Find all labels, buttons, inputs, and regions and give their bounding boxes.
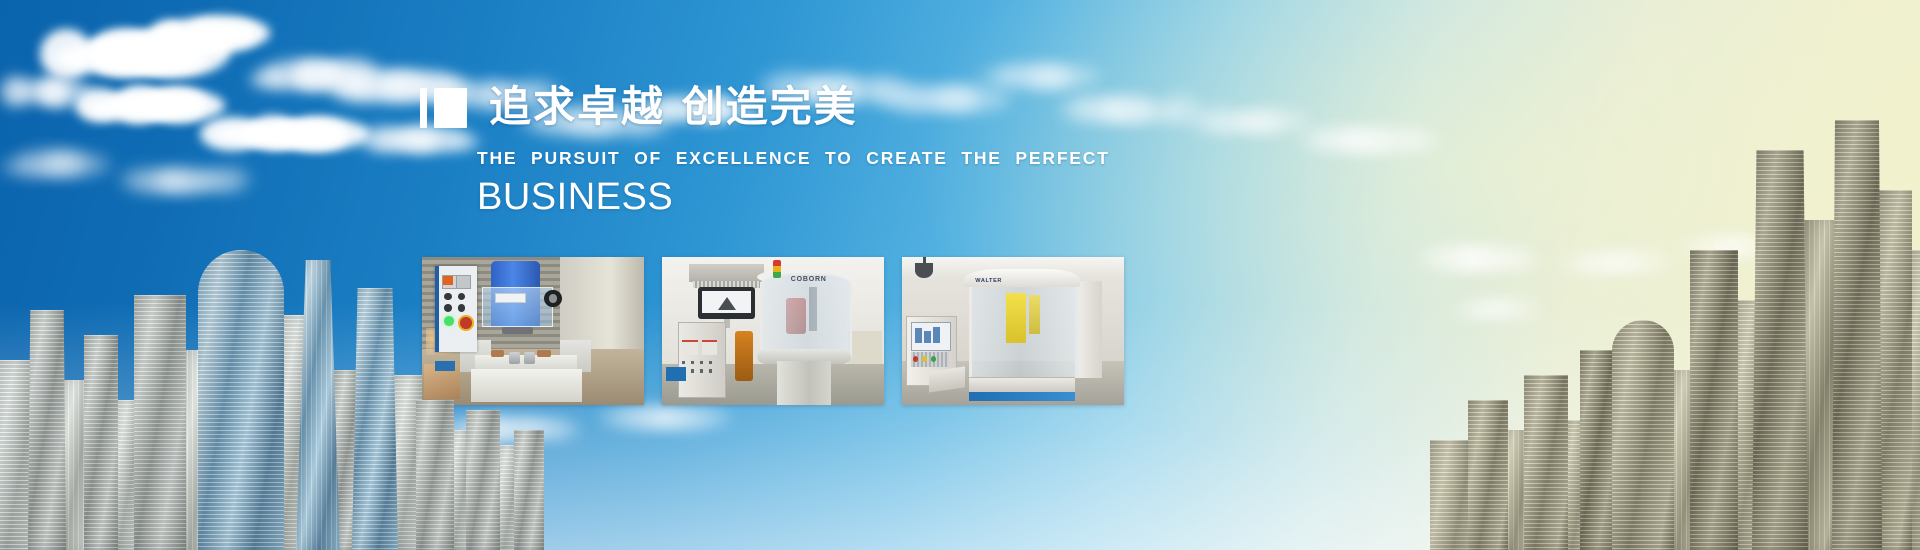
right-city-building-4 [1524, 375, 1568, 550]
banner-content: 追求卓越 创造完美 THE PURSUIT OF EXCELLENCE TO C… [420, 86, 1140, 219]
machine-photo-strip: COBORN [422, 257, 1124, 405]
photo-2-scene: COBORN [662, 257, 884, 405]
left-city-building-14 [416, 400, 454, 550]
left-city-building-6 [134, 295, 186, 550]
right-city-building-2 [1468, 400, 1508, 550]
logo-bar-shape [420, 88, 427, 128]
hero-banner: 追求卓越 创造完美 THE PURSUIT OF EXCELLENCE TO C… [0, 0, 1920, 550]
left-city-building-8 [198, 250, 284, 550]
left-city-building-12 [352, 288, 398, 550]
left-city-building-2 [28, 310, 66, 550]
left-city-building-18 [514, 430, 544, 550]
photo-cnc-surface-grinder[interactable] [422, 257, 644, 405]
left-city-building-10 [296, 260, 340, 550]
business-word: BUSINESS [477, 177, 1140, 219]
right-city-building-7 [1612, 320, 1674, 550]
left-city-building-4 [84, 335, 118, 550]
left-city-building-16 [466, 410, 500, 550]
photo-coborn-grinding-machine[interactable]: COBORN [662, 257, 884, 405]
headline-chinese: 追求卓越 创造完美 [489, 86, 858, 128]
logo-square-shape [434, 88, 467, 128]
photo-3-scene: WALTER [902, 257, 1124, 405]
bar-square-logo-mark-icon [420, 88, 467, 128]
right-city-building-11 [1752, 150, 1808, 550]
photo-1-scene [422, 257, 644, 405]
coborn-brand-text: COBORN [791, 276, 827, 283]
right-city-building-9 [1690, 250, 1738, 550]
right-city-building-13 [1832, 120, 1882, 550]
right-cityscape [1440, 80, 1920, 550]
photo-walter-tool-grinder[interactable]: WALTER [902, 257, 1124, 405]
headline-row: 追求卓越 创造完美 [420, 86, 1140, 128]
walter-brand-text: WALTER [975, 278, 1002, 284]
subtitle-english: THE PURSUIT OF EXCELLENCE TO CREATE THE … [477, 148, 1140, 169]
